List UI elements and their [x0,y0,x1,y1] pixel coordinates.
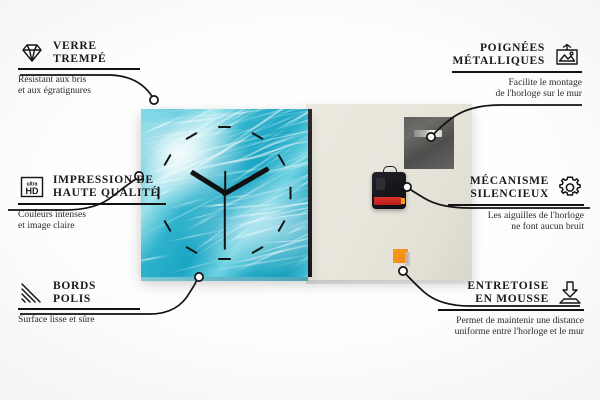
clock-tick [290,187,292,200]
battery [374,197,402,205]
feature-title: BORDSPOLIS [53,280,96,305]
feature-divider [18,68,140,70]
feature-description: Permet de maintenir une distanceuniforme… [438,315,584,338]
clock-hour-hand [189,170,225,195]
feature-description: Surface lisse et sûre [18,314,140,325]
feature-title: VERRETREMPÉ [53,40,106,65]
movement-hook [383,166,397,175]
quartz-movement [372,172,406,209]
feature-title: POIGNÉESMÉTALLIQUES [453,42,545,67]
feature-verre-trempe[interactable]: VERRETREMPÉ Résistant aux briset aux égr… [18,40,140,97]
wall-mount-icon [552,42,582,68]
feature-divider [448,204,584,206]
feature-mecanisme-silencieux[interactable]: MÉCANISMESILENCIEUX Les aiguilles de l'h… [448,174,584,232]
glass-edge-bottom [141,277,308,281]
feature-description: Les aiguilles de l'horlogene font aucun … [448,210,584,233]
feature-head: BORDSPOLIS [18,280,140,305]
feature-description: Résistant aux briset aux égratignures [18,74,140,97]
feature-bords-polis[interactable]: BORDSPOLIS Surface lisse et sûre [18,280,140,325]
feature-head: ultra HD IMPRESSION DEHAUTE QUALITÉ [18,174,166,200]
feature-head: POIGNÉESMÉTALLIQUES [452,42,582,68]
feature-title: ENTRETOISEEN MOUSSE [467,280,549,305]
infographic-stage: VERRETREMPÉ Résistant aux briset aux égr… [0,0,600,400]
feature-divider [452,71,582,73]
clock-tick [218,258,231,260]
connector-dot-verre-trempe [150,96,158,104]
feature-entretoise-en-mousse[interactable]: ENTRETOISEEN MOUSSE Permet de maintenir … [438,280,584,337]
clock-tick [218,126,231,128]
feature-divider [18,203,166,205]
clock-tick [185,246,197,254]
foam-spacer-icon [556,280,584,306]
clock-tick [278,154,286,166]
clock-front-glass-panel [141,109,308,277]
svg-text:HD: HD [26,186,39,196]
foam-spacer [393,249,408,263]
feature-head: ENTRETOISEEN MOUSSE [438,280,584,306]
hanger-slot [414,130,442,137]
feature-title: MÉCANISMESILENCIEUX [470,175,549,200]
clock-second-hand [224,193,226,250]
feature-head: VERRETREMPÉ [18,40,140,65]
feature-description: Facilite le montagede l'horloge sur le m… [452,77,582,100]
feature-impression-haute-qualite[interactable]: ultra HD IMPRESSION DEHAUTE QUALITÉ Coul… [18,174,166,231]
glass-edge-dark [308,109,312,277]
ultra-hd-icon: ultra HD [18,174,46,200]
polished-edges-icon [18,281,46,305]
feature-divider [438,309,584,311]
clock-second-hand-tail [224,171,226,193]
metal-hanger-plate [404,117,454,169]
feature-description: Couleurs intenseset image claire [18,209,166,232]
feature-title: IMPRESSION DEHAUTE QUALITÉ [53,174,159,199]
movement-chip [376,178,385,190]
clock-tick [251,132,263,140]
clock-tick [163,154,171,166]
gear-icon [556,174,584,201]
clock-face [141,109,308,277]
diamond-icon [18,41,46,65]
clock-center-hub [222,191,227,196]
feature-poignees-metalliques[interactable]: POIGNÉESMÉTALLIQUES Facilite le montaged… [452,42,582,99]
feature-divider [18,308,140,310]
clock-tick [251,246,263,254]
clock-tick [185,132,197,140]
feature-head: MÉCANISMESILENCIEUX [448,174,584,201]
clock-minute-hand [223,166,269,195]
clock-tick [278,220,286,232]
